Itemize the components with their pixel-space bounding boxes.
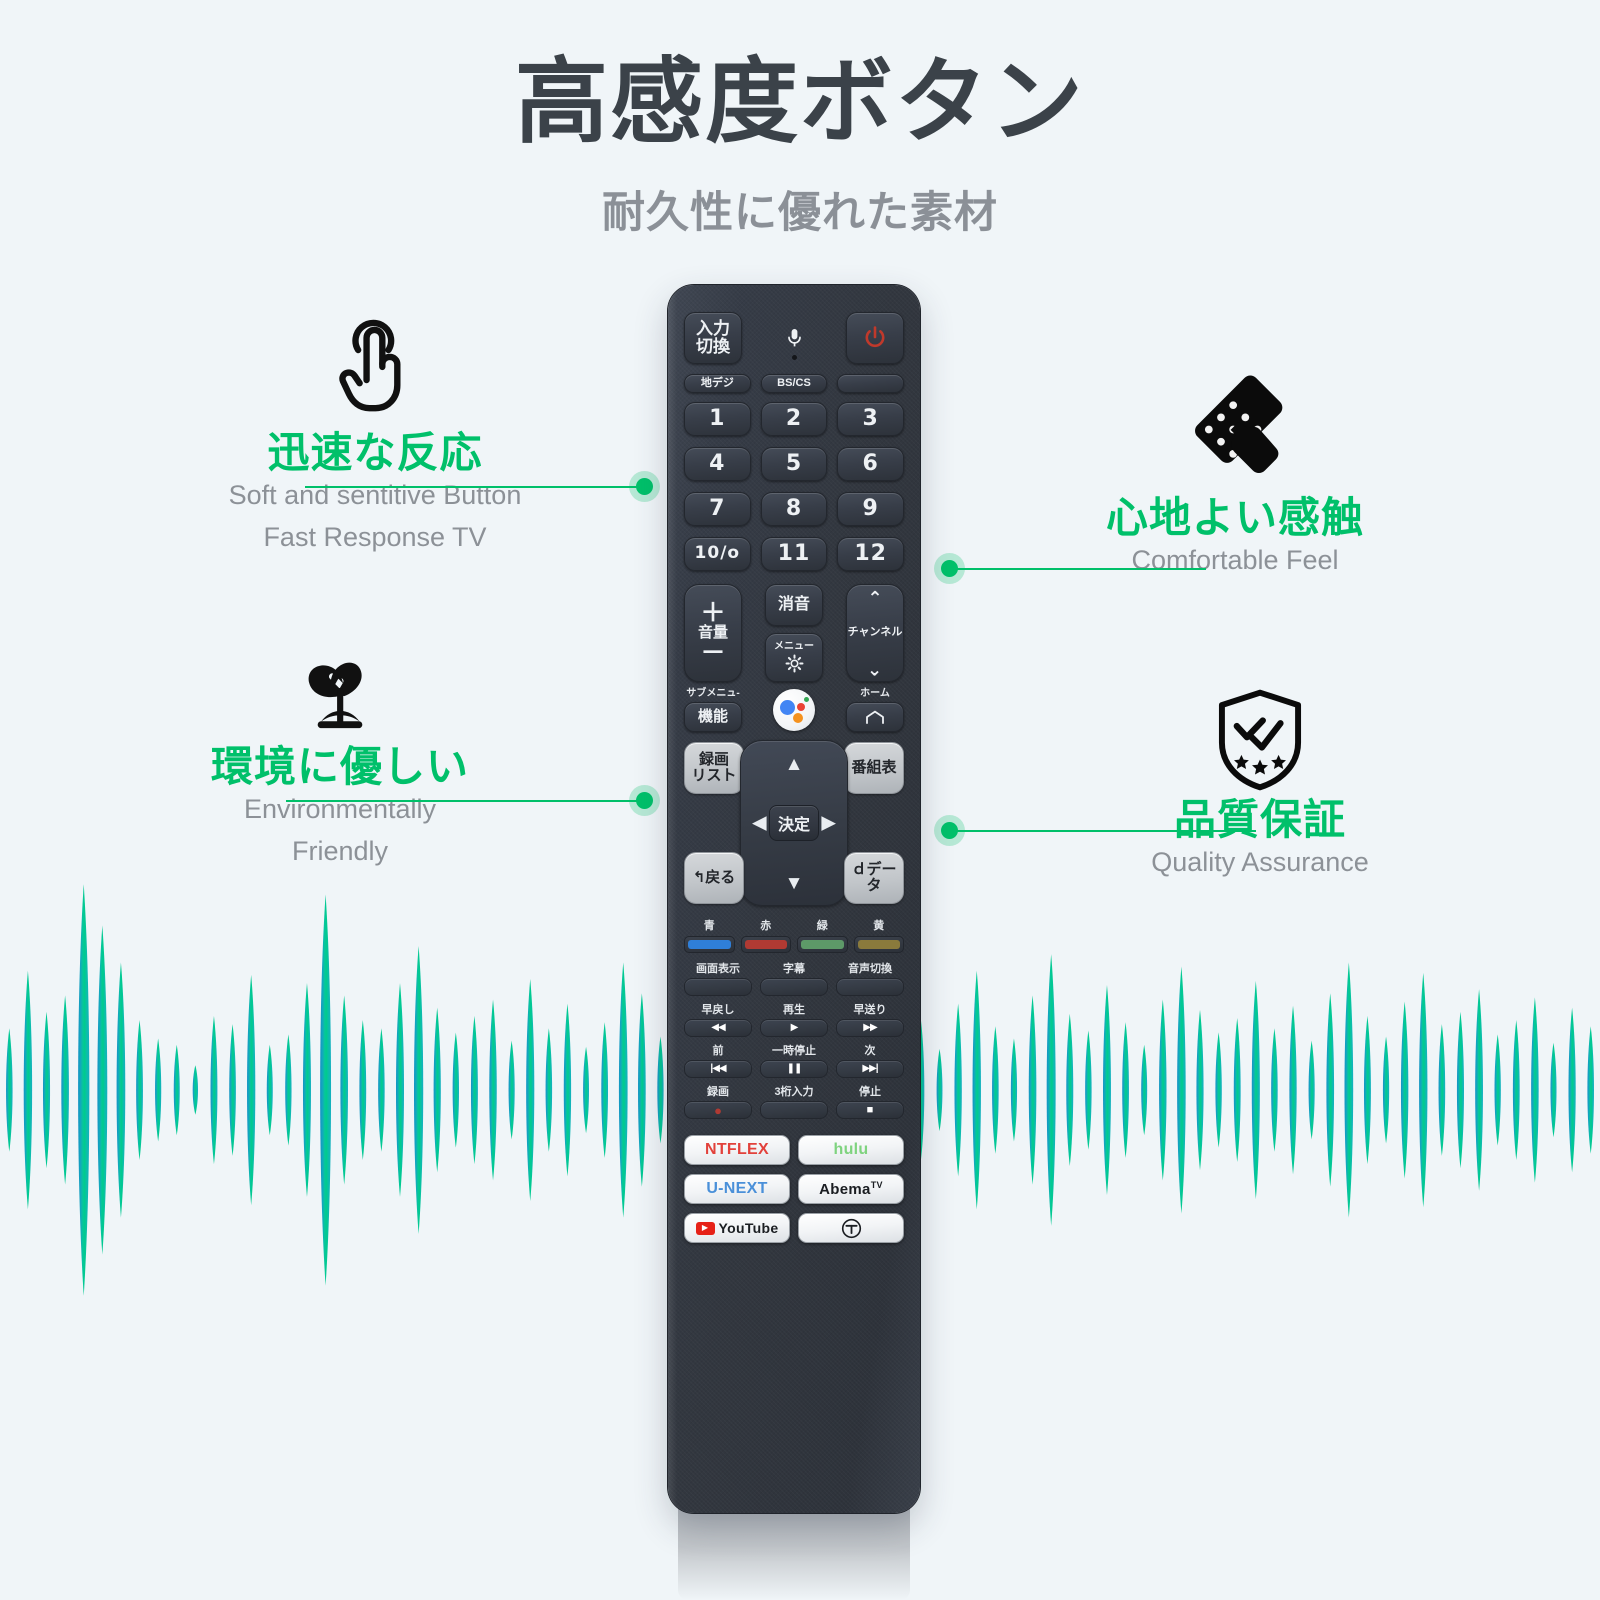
waveform-bar — [1475, 989, 1483, 1191]
arrow-down-icon[interactable]: ▼ — [785, 874, 804, 893]
waveform-bar — [546, 1028, 553, 1151]
color-key-row: 青赤緑黄 — [684, 917, 904, 953]
waveform-bar — [583, 1047, 589, 1133]
waveform-bar — [229, 1024, 236, 1156]
app-label: NTFLEX — [705, 1142, 769, 1159]
feature-text-en-2: Friendly — [150, 831, 530, 873]
waveform-bar — [601, 1022, 608, 1158]
transport-icon: ▶ — [791, 1023, 798, 1033]
band-button-terrestrial[interactable]: 地デジ — [684, 374, 751, 393]
color-key-label: 赤 — [741, 917, 792, 933]
waveform-bar — [1309, 1041, 1315, 1140]
waveform-bar — [136, 1020, 143, 1160]
function-label: 再生 — [760, 1001, 828, 1017]
microphone-area — [765, 312, 823, 360]
app-label: YouTube — [719, 1221, 779, 1236]
waveform-bar — [453, 1032, 459, 1147]
mute-menu-column: 消音 メニュー — [765, 584, 823, 682]
dpad[interactable]: ▲ ▼ ◀ ▶ 決定 — [740, 740, 848, 906]
number-button-11[interactable]: 11 — [761, 537, 828, 571]
function-button[interactable]: 機能 — [684, 702, 742, 732]
volume-up-label: ＋ — [700, 603, 725, 623]
waveform-bar — [1141, 1045, 1147, 1136]
number-button-2[interactable]: 2 — [761, 402, 828, 436]
number-button-10-o[interactable]: 10/o — [684, 537, 751, 571]
waveform-bar — [1568, 1008, 1575, 1173]
function-label: 字幕 — [760, 960, 828, 976]
waveform-bar — [78, 884, 89, 1296]
waveform-bar — [1401, 1002, 1408, 1179]
hand-holding-remote-icon — [1170, 372, 1300, 490]
band-button-extra[interactable] — [837, 374, 904, 393]
submenu-home-row: サブメニュ- 機能 ホーム — [684, 689, 904, 732]
volume-channel-cluster: ＋ 音量 － 消音 メニュー — [684, 584, 904, 682]
function-button-一時停止[interactable]: ❚❚ — [760, 1060, 828, 1078]
waveform-bar — [396, 983, 404, 1197]
number-keypad: 12345678910/o1112 — [684, 402, 904, 582]
waveform-bar — [1513, 1020, 1520, 1160]
waveform-bar — [1103, 985, 1111, 1195]
waveform-bar — [247, 975, 255, 1205]
google-assistant-icon[interactable] — [773, 689, 815, 731]
input-switch-button[interactable]: 入力 切換 — [684, 312, 742, 364]
app-button-tver[interactable] — [798, 1213, 904, 1243]
function-label: 早戻し — [684, 1001, 752, 1017]
waveform-bar — [6, 1028, 13, 1151]
function-label-row: 画面表示字幕音声切換 — [684, 960, 904, 976]
feature-text-en-2: Fast Response TV — [180, 517, 570, 559]
remote-reflection — [678, 1508, 910, 1600]
function-label-row: 早戻し再生早送り — [684, 1001, 904, 1017]
number-button-8[interactable]: 8 — [761, 492, 828, 526]
rec-list-label-2: リスト — [691, 768, 736, 784]
waveform-bar — [43, 1012, 50, 1168]
menu-label: メニュー — [774, 642, 814, 653]
waveform-bar — [1383, 1036, 1389, 1143]
waveform-bar — [1252, 981, 1260, 1199]
ir-led — [792, 355, 797, 360]
back-button[interactable]: ↰戻る — [684, 852, 744, 904]
waveform-bar — [1419, 973, 1427, 1208]
waveform-bar — [193, 1065, 198, 1114]
waveform-bar — [1531, 997, 1539, 1182]
color-key-label: 青 — [684, 917, 735, 933]
color-key-赤[interactable] — [741, 936, 792, 953]
waveform-bar — [1550, 1043, 1556, 1138]
app-button-abematv[interactable]: AbemaTV — [798, 1174, 904, 1204]
number-button-4[interactable]: 4 — [684, 447, 751, 481]
waveform-bar — [1495, 1034, 1501, 1145]
connector-dot-comfortable-feel — [941, 560, 958, 577]
function-label-row: 前一時停止次 — [684, 1042, 904, 1058]
waveform-bar — [1271, 1028, 1278, 1151]
connector-dot-quality-assurance — [941, 822, 958, 839]
number-button-9[interactable]: 9 — [837, 492, 904, 526]
tap-hand-icon — [315, 305, 435, 425]
volume-rocker[interactable]: ＋ 音量 － — [684, 584, 742, 682]
waveform-bar — [320, 894, 331, 1285]
number-button-7[interactable]: 7 — [684, 492, 751, 526]
app-button-youtube[interactable]: ▶YouTube — [684, 1213, 790, 1243]
arrow-right-icon[interactable]: ▶ — [821, 814, 836, 833]
color-key-label: 緑 — [797, 917, 848, 933]
waveform-bar — [24, 971, 32, 1210]
feature-text-en-1: Environmentally — [150, 789, 530, 831]
home-button[interactable] — [846, 702, 904, 732]
streaming-app-buttons: NTFLEXhuluU-NEXTAbemaTV▶YouTube — [684, 1135, 904, 1243]
feature-text-en-1: Quality Assurance — [1060, 842, 1460, 884]
function-button-row: ◀◀▶▶▶ — [684, 1019, 904, 1037]
function-label-row: 録画3桁入力停止 — [684, 1083, 904, 1099]
feature-quality-assurance: 品質保証 Quality Assurance — [1060, 686, 1460, 884]
waveform-bar — [489, 999, 496, 1180]
function-button-停止[interactable]: ■ — [836, 1101, 904, 1119]
feature-title-ja: 品質保証 — [1060, 798, 1460, 842]
home-column: ホーム — [846, 689, 904, 732]
waveform-bar — [937, 1049, 943, 1131]
waveform-bar — [434, 1008, 441, 1173]
function-button-字幕[interactable] — [760, 978, 828, 996]
transport-icon: |◀◀ — [710, 1064, 725, 1074]
rec-list-label-1: 録画 — [691, 752, 736, 768]
connector-dot-eco-friendly — [636, 792, 653, 809]
app-button-u-next[interactable]: U-NEXT — [684, 1174, 790, 1204]
waveform-bar — [117, 962, 126, 1217]
band-button-row: 地デジ BS/CS — [684, 374, 904, 393]
function-label: 停止 — [836, 1083, 904, 1099]
waveform-bar — [1047, 954, 1056, 1226]
waveform-bar — [174, 1045, 180, 1136]
program-guide-button[interactable]: 番組表 — [844, 742, 904, 794]
feature-title-ja: 環境に優しい — [150, 745, 530, 789]
connector-dot-fast-response — [636, 478, 653, 495]
waveform-bar — [378, 1028, 385, 1151]
input-switch-label-1: 入力 — [696, 320, 730, 338]
waveform-bar — [1439, 1024, 1446, 1156]
waveform-bar — [1177, 967, 1186, 1214]
color-key-黄[interactable] — [854, 936, 905, 953]
function-button-早送り[interactable]: ▶▶ — [836, 1019, 904, 1037]
waveform-bar — [1196, 1010, 1203, 1171]
function-label: 画面表示 — [684, 960, 752, 976]
waveform-bar — [1011, 1039, 1017, 1142]
function-label: 音声切換 — [836, 960, 904, 976]
waveform-bar — [564, 1004, 571, 1177]
input-switch-label-2: 切換 — [696, 338, 730, 356]
waveform-bar — [1326, 993, 1334, 1186]
waveform-bar — [1457, 1012, 1464, 1168]
function-button-次[interactable]: ▶▶| — [836, 1060, 904, 1078]
youtube-play-icon: ▶ — [696, 1222, 715, 1235]
waveform-bar — [992, 1026, 999, 1154]
color-key-label: 黄 — [854, 917, 905, 933]
feature-title-ja: 心地よい感触 — [1035, 496, 1435, 540]
volume-down-label: － — [700, 643, 725, 663]
power-icon — [862, 325, 888, 351]
function-button-rows: 画面表示字幕音声切換早戻し再生早送り◀◀▶▶▶前一時停止次|◀◀❚❚▶▶|録画3… — [684, 960, 904, 1119]
channel-rocker[interactable]: ⌃ チャンネル ⌃ — [846, 584, 904, 682]
waveform-bar — [954, 1004, 961, 1177]
record-icon: ● — [714, 1104, 722, 1117]
function-button-row: ●■ — [684, 1101, 904, 1119]
waveform-bar — [1234, 1018, 1241, 1162]
function-button-録画[interactable]: ● — [684, 1101, 752, 1119]
waveform-bar — [1066, 1014, 1073, 1166]
page-subtitle: 耐久性に優れた素材 — [0, 178, 1600, 240]
feature-text-en-1: Comfortable Feel — [1035, 540, 1435, 582]
color-swatch — [745, 940, 788, 949]
function-button-前[interactable]: |◀◀ — [684, 1060, 752, 1078]
number-button-6[interactable]: 6 — [837, 447, 904, 481]
app-label: hulu — [834, 1142, 869, 1159]
number-button-1[interactable]: 1 — [684, 402, 751, 436]
waveform-bar — [210, 1016, 217, 1164]
waveform-bar — [414, 946, 423, 1234]
connector-line-eco-friendly — [286, 800, 644, 802]
waveform-bar — [61, 995, 69, 1184]
mute-button[interactable]: 消音 — [765, 584, 823, 626]
tver-icon — [841, 1218, 862, 1239]
waveform-bar — [619, 962, 628, 1217]
arrow-left-icon[interactable]: ◀ — [752, 814, 767, 833]
submenu-column: サブメニュ- 機能 — [684, 689, 742, 732]
function-button-3桁入力[interactable] — [760, 1101, 828, 1119]
number-button-5[interactable]: 5 — [761, 447, 828, 481]
feature-eco-friendly: 環境に優しい Environmentally Friendly — [150, 645, 530, 873]
waveform-bar — [1122, 1022, 1129, 1158]
data-button[interactable]: ｄデータ — [844, 852, 904, 904]
infographic-canvas: 高感度ボタン 耐久性に優れた素材 迅速な反応 Soft and sentitiv… — [0, 0, 1600, 1600]
feature-comfortable-feel: 心地よい感触 Comfortable Feel — [1035, 372, 1435, 582]
app-button-hulu[interactable]: hulu — [798, 1135, 904, 1165]
shield-check-stars-icon — [1208, 686, 1312, 794]
channel-label: チャンネル — [848, 627, 903, 639]
connector-line-quality-assurance — [956, 830, 1256, 832]
waveform-bar — [1029, 995, 1037, 1184]
waveform-bar — [1289, 1006, 1296, 1175]
home-label: ホーム — [860, 689, 890, 699]
tv-remote-control: 入力 切換 — [668, 285, 920, 1513]
power-button[interactable] — [846, 312, 904, 364]
waveform-bar — [1159, 999, 1166, 1180]
arrow-up-icon[interactable]: ▲ — [785, 755, 804, 774]
function-label: 3桁入力 — [760, 1083, 828, 1099]
recording-list-button[interactable]: 録画 リスト — [684, 742, 744, 794]
waveform-bar — [1364, 1016, 1371, 1164]
feature-text-en-1: Soft and sentitive Button — [180, 475, 570, 517]
microphone-icon — [787, 328, 802, 348]
waveform-bar — [340, 995, 348, 1184]
transport-icon: ❚❚ — [787, 1064, 802, 1074]
number-button-3[interactable]: 3 — [837, 402, 904, 436]
waveform-bar — [1215, 1032, 1221, 1147]
waveform-bar — [509, 1041, 515, 1140]
function-label: 一時停止 — [760, 1042, 828, 1058]
function-label: 次 — [836, 1042, 904, 1058]
waveform-bar — [97, 925, 107, 1254]
waveform-bar — [285, 1034, 291, 1145]
waveform-bar — [359, 1020, 366, 1160]
app-label: AbemaTV — [819, 1181, 883, 1198]
function-label: 早送り — [836, 1001, 904, 1017]
submenu-label: サブメニュ- — [686, 689, 739, 699]
feature-fast-response: 迅速な反応 Soft and sentitive Button Fast Res… — [180, 305, 570, 559]
gear-icon — [785, 654, 804, 673]
waveform-bar — [1587, 1026, 1594, 1154]
waveform-bar — [1344, 962, 1353, 1217]
function-label: 録画 — [684, 1083, 752, 1099]
function-button-row: |◀◀❚❚▶▶| — [684, 1060, 904, 1078]
stop-icon: ■ — [867, 1105, 874, 1116]
page-title: 高感度ボタン — [0, 52, 1600, 152]
color-swatch — [688, 940, 731, 949]
feature-title-ja: 迅速な反応 — [180, 431, 570, 475]
transport-icon: ◀◀ — [711, 1023, 724, 1033]
ok-button[interactable]: 決定 — [769, 805, 819, 841]
color-key-緑[interactable] — [797, 936, 848, 953]
color-swatch — [801, 940, 844, 949]
number-button-12[interactable]: 12 — [837, 537, 904, 571]
transport-icon: ▶▶| — [862, 1064, 877, 1074]
waveform-bar — [973, 971, 981, 1210]
function-button-音声切換[interactable] — [836, 978, 904, 996]
waveform-bar — [155, 1039, 161, 1142]
remote-top-row: 入力 切換 — [684, 312, 904, 364]
connector-line-fast-response — [305, 486, 645, 488]
waveform-bar — [657, 1036, 663, 1143]
transport-icon: ▶▶ — [863, 1023, 876, 1033]
app-label: U-NEXT — [706, 1181, 767, 1198]
function-button-画面表示[interactable] — [684, 978, 752, 996]
function-button-早戻し[interactable]: ◀◀ — [684, 1019, 752, 1037]
menu-button[interactable]: メニュー — [765, 633, 823, 682]
connector-line-comfortable-feel — [956, 568, 1206, 570]
waveform-bar — [1085, 1030, 1091, 1149]
waveform-bar — [526, 979, 534, 1201]
color-swatch — [858, 940, 901, 949]
sprout-icon — [284, 645, 396, 741]
waveform-bar — [471, 1016, 478, 1164]
band-button-bscs[interactable]: BS/CS — [761, 374, 828, 393]
waveform-bar — [267, 1045, 273, 1136]
color-key-青[interactable] — [684, 936, 735, 953]
waveform-bar — [638, 993, 646, 1186]
function-label: 前 — [684, 1042, 752, 1058]
channel-up-icon: ⌃ — [867, 591, 882, 605]
waveform-bar — [303, 983, 311, 1197]
app-button-ntflex[interactable]: NTFLEX — [684, 1135, 790, 1165]
function-button-再生[interactable]: ▶ — [760, 1019, 828, 1037]
home-icon — [865, 710, 885, 725]
navigation-cluster: 録画 リスト 番組表 ▲ ▼ ◀ ▶ 決定 ↰戻る ｄデータ — [684, 742, 904, 904]
function-button-row — [684, 978, 904, 996]
channel-down-icon: ⌃ — [867, 661, 882, 675]
